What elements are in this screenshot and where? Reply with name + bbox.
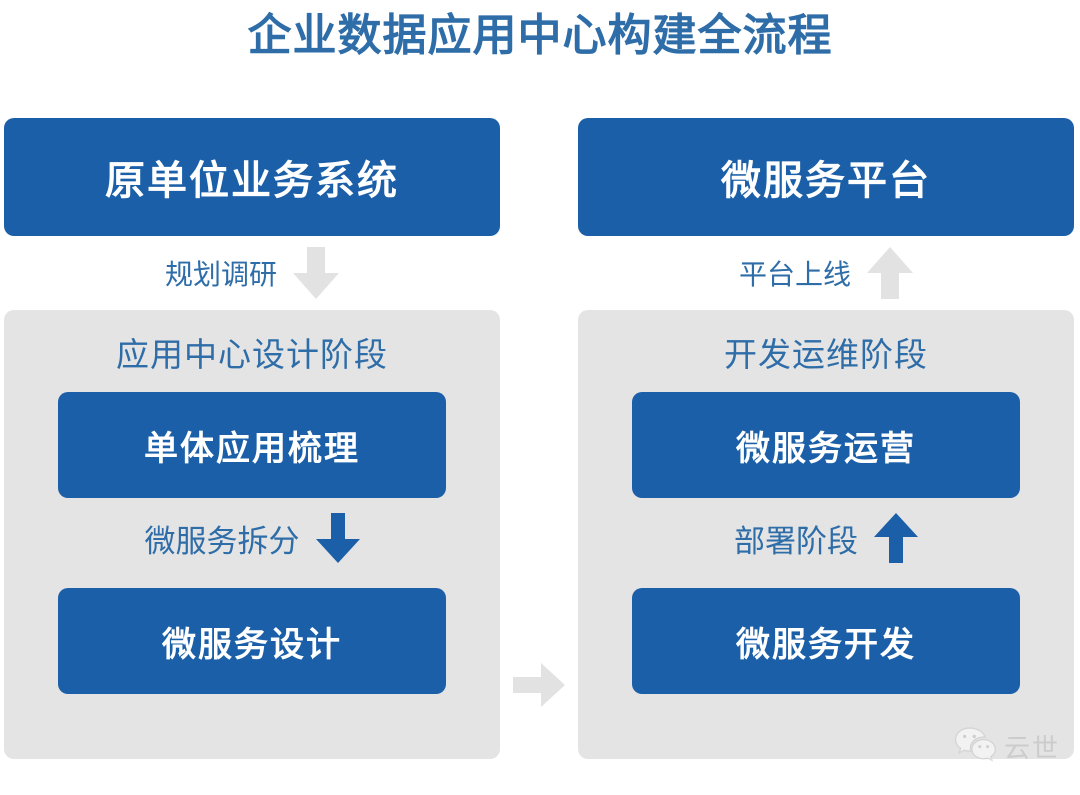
connector-label: 平台上线 — [739, 253, 851, 293]
stage-panel-devops: 开发运维阶段 微服务运营 部署阶段 微服务开发 — [578, 310, 1074, 759]
arrow-down-icon — [316, 513, 360, 563]
arrow-up-icon — [874, 513, 918, 563]
stage-box-monolith-analysis[interactable]: 单体应用梳理 — [58, 392, 446, 498]
stage-title: 应用中心设计阶段 — [4, 328, 500, 382]
header-box-original-system[interactable]: 原单位业务系统 — [4, 118, 500, 236]
connector-deployment-phase: 部署阶段 — [578, 498, 1074, 578]
header-box-microservice-platform[interactable]: 微服务平台 — [578, 118, 1074, 236]
connector-label: 微服务拆分 — [145, 516, 300, 561]
stage-box-label: 微服务运营 — [736, 421, 916, 470]
stage-panel-design: 应用中心设计阶段 单体应用梳理 微服务拆分 微服务设计 — [4, 310, 500, 759]
stage-box-microservice-design[interactable]: 微服务设计 — [58, 588, 446, 694]
connector-microservice-split: 微服务拆分 — [4, 498, 500, 578]
stage-box-microservice-development[interactable]: 微服务开发 — [632, 588, 1020, 694]
stage-box-microservice-operation[interactable]: 微服务运营 — [632, 392, 1020, 498]
page-title: 企业数据应用中心构建全流程 — [0, 6, 1080, 66]
stage-box-label: 微服务开发 — [736, 617, 916, 666]
column-left: 原单位业务系统 规划调研 应用中心设计阶段 单体应用梳理 微服务拆分 微服务设计 — [4, 118, 500, 759]
header-label: 原单位业务系统 — [105, 148, 399, 206]
connector-label: 部署阶段 — [734, 516, 858, 561]
connector-planning-research: 规划调研 — [4, 236, 500, 310]
header-label: 微服务平台 — [721, 148, 931, 206]
stage-title: 开发运维阶段 — [578, 328, 1074, 382]
arrow-up-icon — [867, 247, 913, 299]
arrow-right-icon — [513, 663, 565, 707]
arrow-down-icon — [293, 247, 339, 299]
middle-transition-arrow — [508, 660, 570, 710]
column-right: 微服务平台 平台上线 开发运维阶段 微服务运营 部署阶段 微服务开发 — [578, 118, 1074, 759]
connector-label: 规划调研 — [165, 253, 277, 293]
connector-platform-launch: 平台上线 — [578, 236, 1074, 310]
stage-box-label: 单体应用梳理 — [144, 421, 360, 470]
stage-box-label: 微服务设计 — [162, 617, 342, 666]
